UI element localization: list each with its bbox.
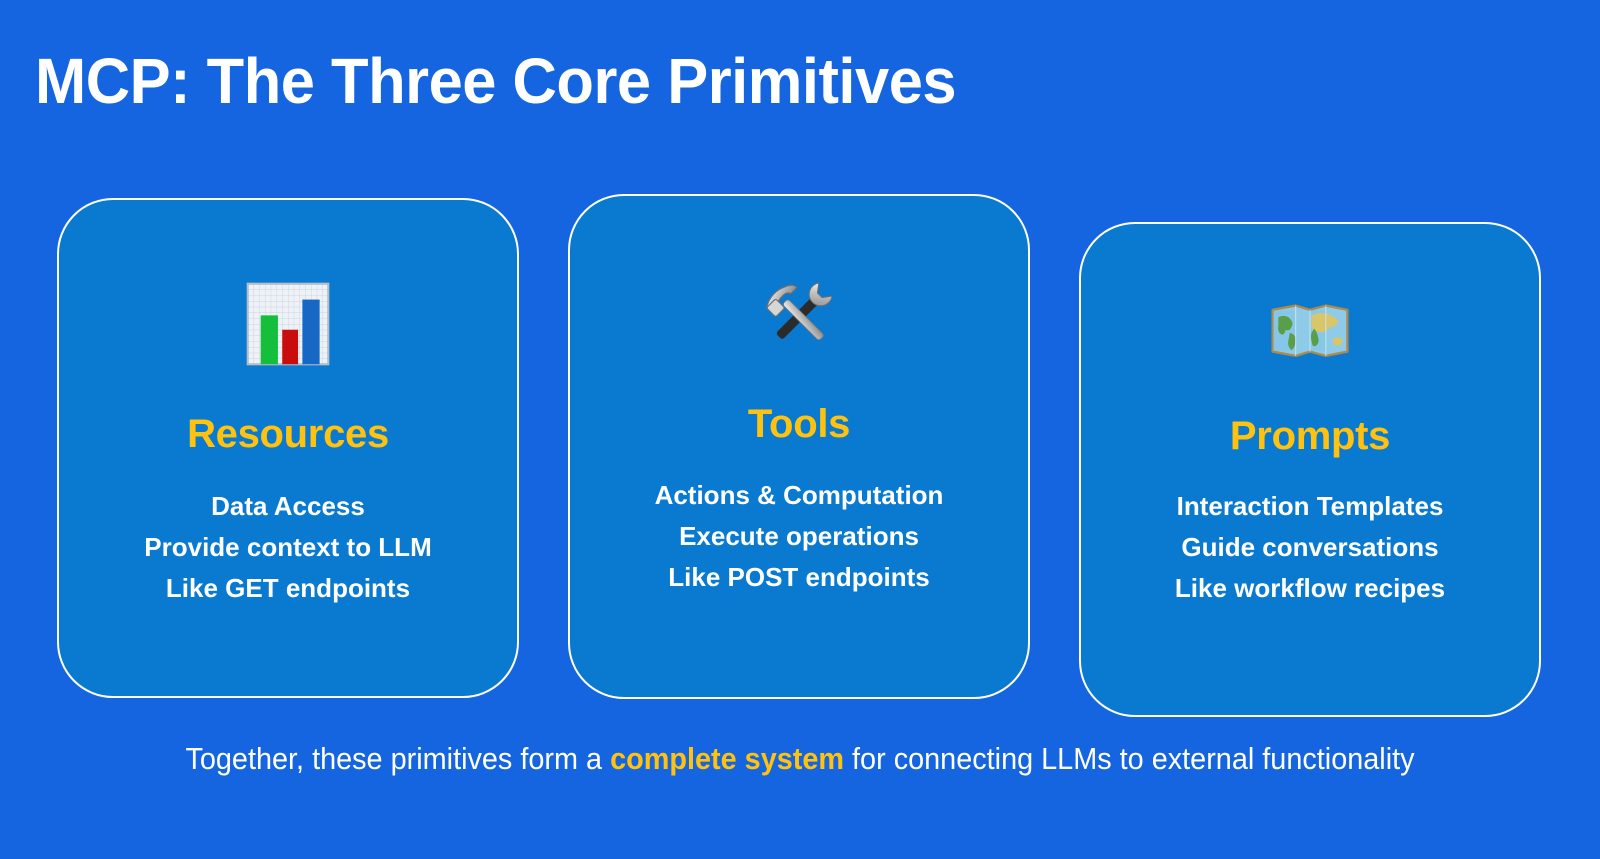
footer-caption: Together, these primitives form a comple… <box>56 735 1544 782</box>
primitive-card-prompts[interactable]: Prompts Interaction Templates Guide conv… <box>1079 222 1541 717</box>
primitive-heading-resources: Resources <box>187 414 389 454</box>
footer-highlight: complete system <box>610 741 844 776</box>
world-map-icon <box>1264 284 1356 376</box>
primitive-line: Like workflow recipes <box>1175 568 1445 609</box>
bar-chart-icon <box>242 278 334 370</box>
primitive-lines-resources: Data Access Provide context to LLM Like … <box>59 486 517 609</box>
primitive-card-resources[interactable]: Resources Data Access Provide context to… <box>57 198 519 698</box>
primitives-card-row: Resources Data Access Provide context to… <box>57 194 1541 714</box>
primitive-heading-tools: Tools <box>748 404 850 444</box>
primitive-line: Like POST endpoints <box>668 557 929 598</box>
primitive-card-tools[interactable]: Tools Actions & Computation Execute oper… <box>568 194 1030 699</box>
primitive-line: Interaction Templates <box>1177 486 1444 527</box>
primitive-lines-prompts: Interaction Templates Guide conversation… <box>1081 486 1539 609</box>
page-title: MCP: The Three Core Primitives <box>35 48 956 115</box>
primitive-line: Actions & Computation <box>655 475 944 516</box>
primitive-line: Data Access <box>211 486 365 527</box>
hammer-and-wrench-icon <box>753 270 845 362</box>
primitive-line: Provide context to LLM <box>144 527 431 568</box>
footer-text-after: for connecting LLMs to external function… <box>844 741 1415 776</box>
primitive-heading-prompts: Prompts <box>1230 416 1390 456</box>
footer-text-before: Together, these primitives form a <box>185 741 610 776</box>
primitive-line: Like GET endpoints <box>166 568 410 609</box>
primitive-line: Guide conversations <box>1181 527 1438 568</box>
primitive-lines-tools: Actions & Computation Execute operations… <box>570 475 1028 598</box>
primitive-line: Execute operations <box>679 516 919 557</box>
